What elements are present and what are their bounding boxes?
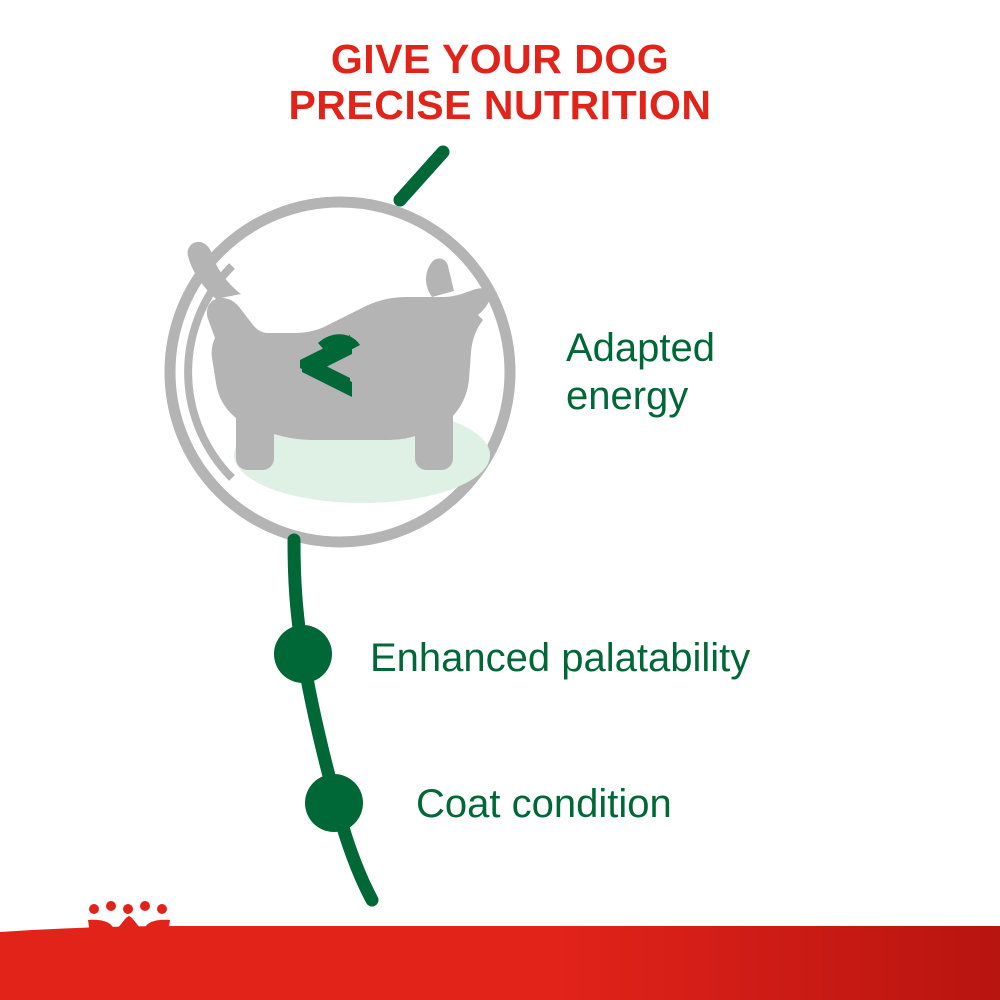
benefit-dot-1 (274, 625, 332, 683)
benefit-label-enhanced-palatability: Enhanced palatability (370, 634, 750, 682)
infographic-page: GIVE YOUR DOG PRECISE NUTRITION (0, 0, 1000, 1000)
diagram-artwork (0, 0, 1000, 1000)
connector-stub-top (400, 152, 443, 200)
benefit-label-coat-condition: Coat condition (416, 780, 672, 828)
benefit-dot-2 (305, 774, 363, 832)
connector-line-main (294, 540, 372, 900)
benefit-label-adapted-energy: Adapted energy (566, 324, 715, 420)
